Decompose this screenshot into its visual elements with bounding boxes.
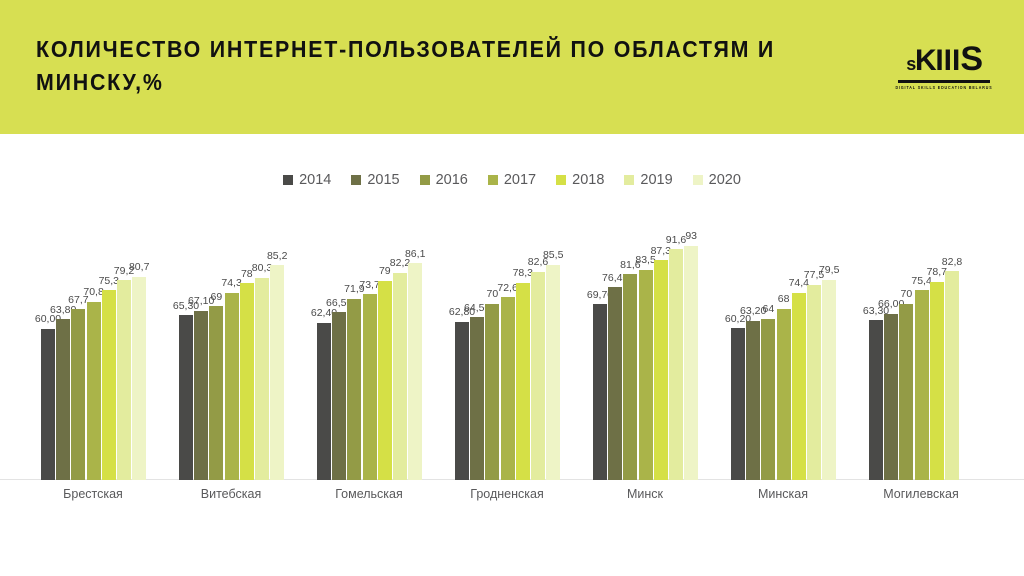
bar-rect [179,315,193,480]
bar-value-label: 82,8 [942,257,962,268]
legend-swatch-icon [624,175,634,185]
bar-rect [485,304,499,480]
bar-rect [654,260,668,480]
bar-rect [945,271,959,480]
legend-swatch-icon [693,175,703,185]
bar-value-label: 91,6 [666,235,686,246]
bar-Минск-2020[interactable]: 93 [684,246,698,480]
legend-item-2015[interactable]: 2015 [351,172,399,188]
bar-Брестская-2015[interactable]: 63,80 [56,319,70,480]
bar-Минская-2014[interactable]: 60,20 [731,328,745,480]
bar-Витебская-2016[interactable]: 69 [209,306,223,480]
bar-rect [41,329,55,480]
bar-rect [731,328,745,480]
bar-rect [408,263,422,480]
bar-group-Гродненская: 62,8064,507072,678,382,685,5 [455,214,559,480]
bar-rect [593,304,607,480]
bar-rect [470,317,484,480]
category-label-Могилевская: Могилевская [849,487,993,501]
bar-rect [930,282,944,480]
bar-Могилевская-2016[interactable]: 70 [899,304,913,480]
legend-label: 2017 [504,172,536,188]
bar-value-label: 85,5 [543,250,563,261]
bar-value-label: 78,3 [513,268,533,279]
bar-Минск-2017[interactable]: 83,5 [639,270,653,480]
legend-swatch-icon [420,175,430,185]
bar-value-label: 70 [901,289,913,300]
bar-rect [393,273,407,480]
bar-Гомельская-2015[interactable]: 66,50 [332,312,346,480]
bar-Гродненская-2019[interactable]: 82,6 [531,272,545,480]
bar-group-Минская: 60,2063,20646874,477,579,5 [731,214,835,480]
bar-Гродненская-2016[interactable]: 70 [485,304,499,480]
bar-rect [792,293,806,480]
bar-value-label: 87,3 [651,246,671,257]
bar-group-Брестская: 60,0063,8067,770,875,379,280,7 [41,214,145,480]
bar-rect [915,290,929,480]
header-band: Количество интернет-пользователей по обл… [0,0,1024,134]
category-label-Минск: Минск [573,487,717,501]
bar-value-label: 93 [685,231,697,242]
legend-swatch-icon [351,175,361,185]
bar-rect [194,311,208,480]
bar-rect [516,283,530,480]
bar-group-Минск: 69,7076,4081,683,587,391,693 [593,214,697,480]
bar-rect [117,280,131,480]
legend-item-2017[interactable]: 2017 [488,172,536,188]
legend-label: 2019 [640,172,672,188]
bar-Минская-2019[interactable]: 77,5 [807,285,821,480]
bar-rect [884,314,898,480]
bar-value-label: 79,5 [819,265,839,276]
bar-Гродненская-2017[interactable]: 72,6 [501,297,515,480]
bar-rect [317,323,331,480]
bar-Гродненская-2018[interactable]: 78,3 [516,283,530,480]
bar-Брестская-2017[interactable]: 70,8 [87,302,101,480]
bar-rect [546,265,560,480]
bar-Могилевская-2017[interactable]: 75,4 [915,290,929,480]
bar-Минская-2017[interactable]: 68 [777,309,791,480]
bar-Витебская-2020[interactable]: 85,2 [270,265,284,480]
bar-value-label: 80,7 [129,262,149,273]
bar-Минск-2015[interactable]: 76,40 [608,287,622,480]
legend-swatch-icon [488,175,498,185]
bar-Минск-2014[interactable]: 69,70 [593,304,607,480]
bar-Минская-2018[interactable]: 74,4 [792,293,806,480]
bar-Могилевская-2018[interactable]: 78,7 [930,282,944,480]
bar-Минская-2020[interactable]: 79,5 [822,280,836,480]
chart-plot-area: 60,0063,8067,770,875,379,280,765,3067,10… [0,214,1024,480]
bar-rect [102,290,116,480]
bar-value-label: 70,8 [83,287,103,298]
bar-value-label: 74,3 [221,278,241,289]
bar-rect [240,283,254,480]
logo-letter-k: K [915,44,935,77]
bar-value-label: 75,3 [99,276,119,287]
bar-rect [225,293,239,480]
bar-rect [899,304,913,480]
legend-label: 2016 [436,172,468,188]
legend-label: 2015 [367,172,399,188]
legend-item-2019[interactable]: 2019 [624,172,672,188]
category-label-Брестская: Брестская [21,487,165,501]
category-label-Витебская: Витебская [159,487,303,501]
bar-Брестская-2018[interactable]: 75,3 [102,290,116,480]
bar-rect [869,320,883,480]
legend-swatch-icon [283,175,293,185]
bar-value-label: 69 [211,292,223,303]
bar-value-label: 83,5 [635,255,655,266]
bar-Гомельская-2017[interactable]: 73,7 [363,294,377,480]
bar-Витебская-2017[interactable]: 74,3 [225,293,239,480]
bar-rect [132,277,146,480]
bar-Брестская-2014[interactable]: 60,00 [41,329,55,480]
bar-rect [378,281,392,480]
bar-Могилевская-2015[interactable]: 66,00 [884,314,898,480]
bar-rect [501,297,515,480]
bar-Гомельская-2019[interactable]: 82,2 [393,273,407,480]
bar-rect [822,280,836,480]
bar-group-Гомельская: 62,4066,5071,973,77982,286,1 [317,214,421,480]
bar-rect [777,309,791,480]
bar-Минск-2019[interactable]: 91,6 [669,249,683,480]
slide-root: Количество интернет-пользователей по обл… [0,0,1024,576]
bar-Брестская-2016[interactable]: 67,7 [71,309,85,480]
bar-rect [623,274,637,480]
bar-rect [684,246,698,480]
bar-rect [332,312,346,480]
bar-rect [608,287,622,480]
legend-item-2020[interactable]: 2020 [693,172,741,188]
bar-rect [761,319,775,480]
legend-swatch-icon [556,175,566,185]
bar-value-label: 68 [778,294,790,305]
bar-Могилевская-2019[interactable]: 82,8 [945,271,959,480]
bar-rect [87,302,101,480]
bar-value-label: 64 [763,304,775,315]
bar-Брестская-2019[interactable]: 79,2 [117,280,131,480]
category-axis: БрестскаяВитебскаяГомельскаяГродненскаяМ… [0,482,1024,512]
bar-Витебская-2015[interactable]: 67,10 [194,311,208,480]
bar-rect [455,322,469,480]
bar-Гомельская-2020[interactable]: 86,1 [408,263,422,480]
legend-label: 2020 [709,172,741,188]
skills-logo: sKIIIS DIGITAL SKILLS EDUCATION BELARUS [892,42,996,90]
bar-rect [56,319,70,480]
legend-item-2018[interactable]: 2018 [556,172,604,188]
page-title: Количество интернет-пользователей по обл… [36,33,799,98]
bar-Минск-2016[interactable]: 81,6 [623,274,637,480]
bar-value-label: 72,6 [497,283,517,294]
bar-value-label: 73,7 [359,280,379,291]
logo-letter-s-small: s [906,54,915,74]
logo-bars: III [935,44,960,77]
bar-value-label: 80,3 [252,263,272,274]
bar-Минская-2016[interactable]: 64 [761,319,775,480]
bar-rect [255,278,269,480]
bar-Гродненская-2014[interactable]: 62,80 [455,322,469,480]
legend-item-2014[interactable]: 2014 [283,172,331,188]
bar-Гомельская-2014[interactable]: 62,40 [317,323,331,480]
bar-Минская-2015[interactable]: 63,20 [746,321,760,480]
bar-group-Могилевская: 63,3066,007075,478,782,8 [869,214,973,480]
bar-rect [270,265,284,480]
bar-rect [669,249,683,480]
bar-Гродненская-2015[interactable]: 64,50 [470,317,484,480]
category-label-Гродненская: Гродненская [435,487,579,501]
bar-value-label: 85,2 [267,251,287,262]
legend-item-2016[interactable]: 2016 [420,172,468,188]
bar-rect [71,309,85,480]
legend-label: 2018 [572,172,604,188]
bar-group-Витебская: 65,3067,106974,37880,385,2 [179,214,283,480]
category-label-Гомельская: Гомельская [297,487,441,501]
bars-container: 60,0063,8067,770,875,379,280,765,3067,10… [0,214,1024,480]
bar-Витебская-2019[interactable]: 80,3 [255,278,269,480]
logo-divider [898,80,990,83]
bar-rect [531,272,545,480]
bar-value-label: 86,1 [405,249,425,260]
bar-Гомельская-2016[interactable]: 71,9 [347,299,361,480]
bar-rect [347,299,361,480]
bar-rect [807,285,821,480]
logo-wordmark: sKIIIS [892,42,996,76]
bar-rect [639,270,653,480]
bar-Минск-2018[interactable]: 87,3 [654,260,668,480]
category-label-Минская: Минская [711,487,855,501]
logo-letter-s-large: S [960,40,981,78]
bar-value-label: 78,7 [927,267,947,278]
logo-subtitle: DIGITAL SKILLS EDUCATION BELARUS [892,86,996,91]
bar-Могилевская-2014[interactable]: 63,30 [869,320,883,480]
bar-Витебская-2014[interactable]: 65,30 [179,315,193,480]
bar-Гродненская-2020[interactable]: 85,5 [546,265,560,480]
bar-rect [746,321,760,480]
legend-label: 2014 [299,172,331,188]
bar-rect [209,306,223,480]
bar-value-label: 82,2 [390,258,410,269]
bar-rect [363,294,377,480]
chart-legend: 2014201520162017201820192020 [0,172,1024,188]
bar-Брестская-2020[interactable]: 80,7 [132,277,146,480]
bar-Гомельская-2018[interactable]: 79 [378,281,392,480]
bar-Витебская-2018[interactable]: 78 [240,283,254,480]
